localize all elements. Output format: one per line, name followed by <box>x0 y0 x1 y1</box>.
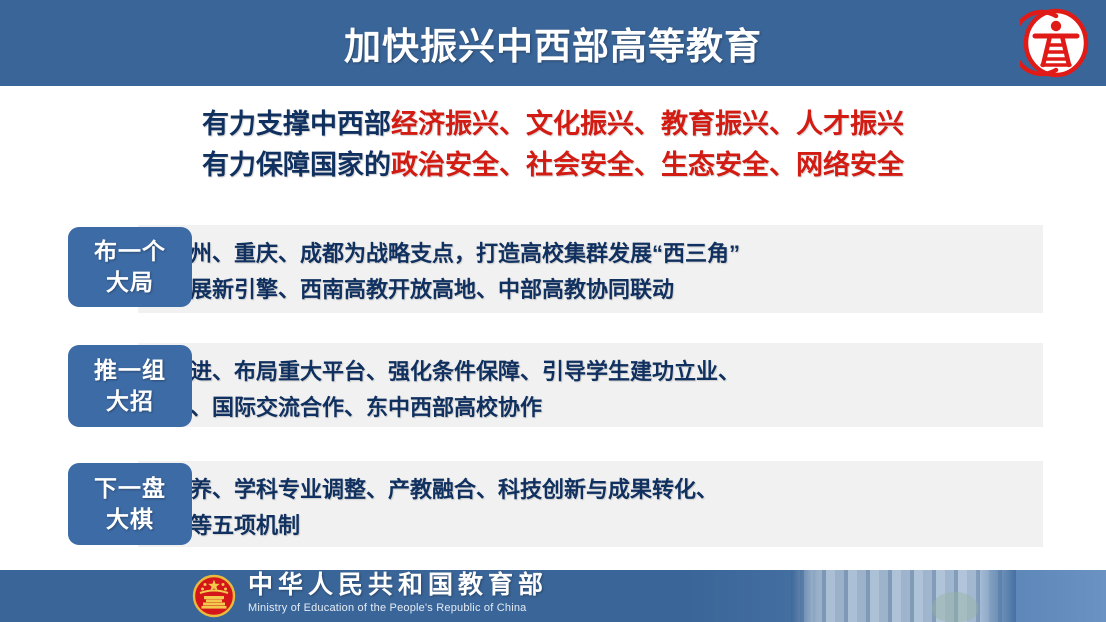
block-tag-line-1: 推一组 <box>94 355 166 386</box>
content-text-line-2: 信息化建设、国际交流合作、东中西部高校协作 <box>80 390 895 426</box>
content-block: 布一个 大局 以西安、兰州、重庆、成都为战略支点，打造高校集群发展“西三角” 西… <box>0 225 1106 313</box>
block-tag-line-1: 下一盘 <box>94 473 166 504</box>
content-text: 以西安、兰州、重庆、成都为战略支点，打造高校集群发展“西三角” 西北高教发展新引… <box>80 236 895 308</box>
content-text-line-2: 应用型发展等五项机制 <box>80 508 895 544</box>
lead-statements: 有力支撑中西部经济振兴、文化振兴、教育振兴、人才振兴 有力保障国家的政治安全、社… <box>0 104 1106 186</box>
footer-org-cn: 中华人民共和国教育部 <box>248 572 548 600</box>
tree-decoration <box>932 592 978 622</box>
page-title: 加快振兴中西部高等教育 <box>0 0 1106 86</box>
footer-organization: 中华人民共和国教育部 Ministry of Education of the … <box>248 572 548 616</box>
content-text: 推动人才西进、布局重大平台、强化条件保障、引导学生建功立业、 信息化建设、国际交… <box>80 354 895 426</box>
block-tag-line-2: 大招 <box>106 386 154 417</box>
content-block: 推一组 大招 推动人才西进、布局重大平台、强化条件保障、引导学生建功立业、 信息… <box>0 343 1106 427</box>
ministry-building-photo <box>791 570 1016 622</box>
lead-line-1-highlight: 经济振兴、文化振兴、教育振兴、人才振兴 <box>391 109 904 139</box>
block-tag: 布一个 大局 <box>68 227 192 307</box>
lead-line-2-prefix: 有力保障国家的 <box>202 150 391 180</box>
slide: 加快振兴中西部高等教育 有力支撑中西部经济振兴、文化振兴、教育振兴、人才振兴 有… <box>0 0 1106 622</box>
lead-line-2-highlight: 政治安全、社会安全、生态安全、网络安全 <box>391 150 904 180</box>
content-block: 下一盘 大棋 完善人才培养、学科专业调整、产教融合、科技创新与成果转化、 应用型… <box>0 461 1106 547</box>
content-text-line-1: 推动人才西进、布局重大平台、强化条件保障、引导学生建功立业、 <box>80 354 895 390</box>
content-text-line-1: 完善人才培养、学科专业调整、产教融合、科技创新与成果转化、 <box>80 472 895 508</box>
block-tag: 下一盘 大棋 <box>68 463 192 545</box>
footer-bar <box>0 570 1106 622</box>
footer-org-en: Ministry of Education of the People's Re… <box>248 600 548 616</box>
lead-line-2: 有力保障国家的政治安全、社会安全、生态安全、网络安全 <box>0 145 1106 186</box>
block-tag-line-1: 布一个 <box>94 236 166 267</box>
lead-line-1: 有力支撑中西部经济振兴、文化振兴、教育振兴、人才振兴 <box>0 104 1106 145</box>
content-text-line-1: 以西安、兰州、重庆、成都为战略支点，打造高校集群发展“西三角” <box>80 236 895 272</box>
block-tag-line-2: 大局 <box>106 267 154 298</box>
china-national-emblem-icon <box>192 574 236 618</box>
block-tag: 推一组 大招 <box>68 345 192 427</box>
block-tag-line-2: 大棋 <box>106 504 154 535</box>
institution-emblem-icon <box>1020 7 1092 79</box>
content-text: 完善人才培养、学科专业调整、产教融合、科技创新与成果转化、 应用型发展等五项机制 <box>80 472 895 544</box>
content-text-line-2: 西北高教发展新引擎、西南高教开放高地、中部高教协同联动 <box>80 272 895 308</box>
lead-line-1-prefix: 有力支撑中西部 <box>202 109 391 139</box>
